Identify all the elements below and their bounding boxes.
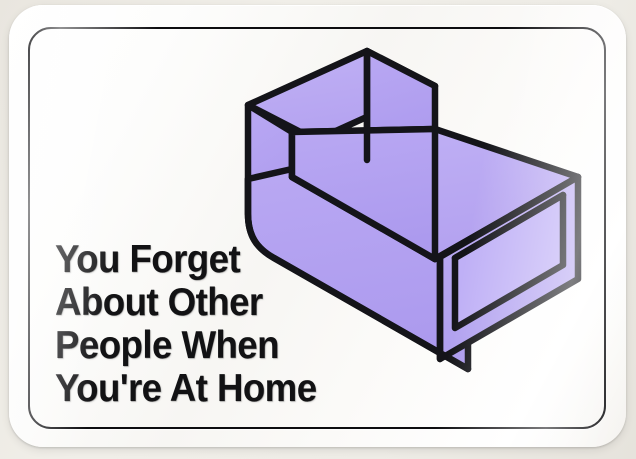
caption-line-1: You Forget xyxy=(55,238,365,281)
caption-line-4: You're At Home xyxy=(55,367,365,410)
sign-face: You Forget About Other People When You'r… xyxy=(30,29,603,426)
caption-line-2: About Other xyxy=(55,281,365,324)
artwork-root: You Forget About Other People When You'r… xyxy=(0,0,636,459)
caption-block: You Forget About Other People When You'r… xyxy=(55,238,385,410)
caption-line-3: People When xyxy=(55,324,365,367)
